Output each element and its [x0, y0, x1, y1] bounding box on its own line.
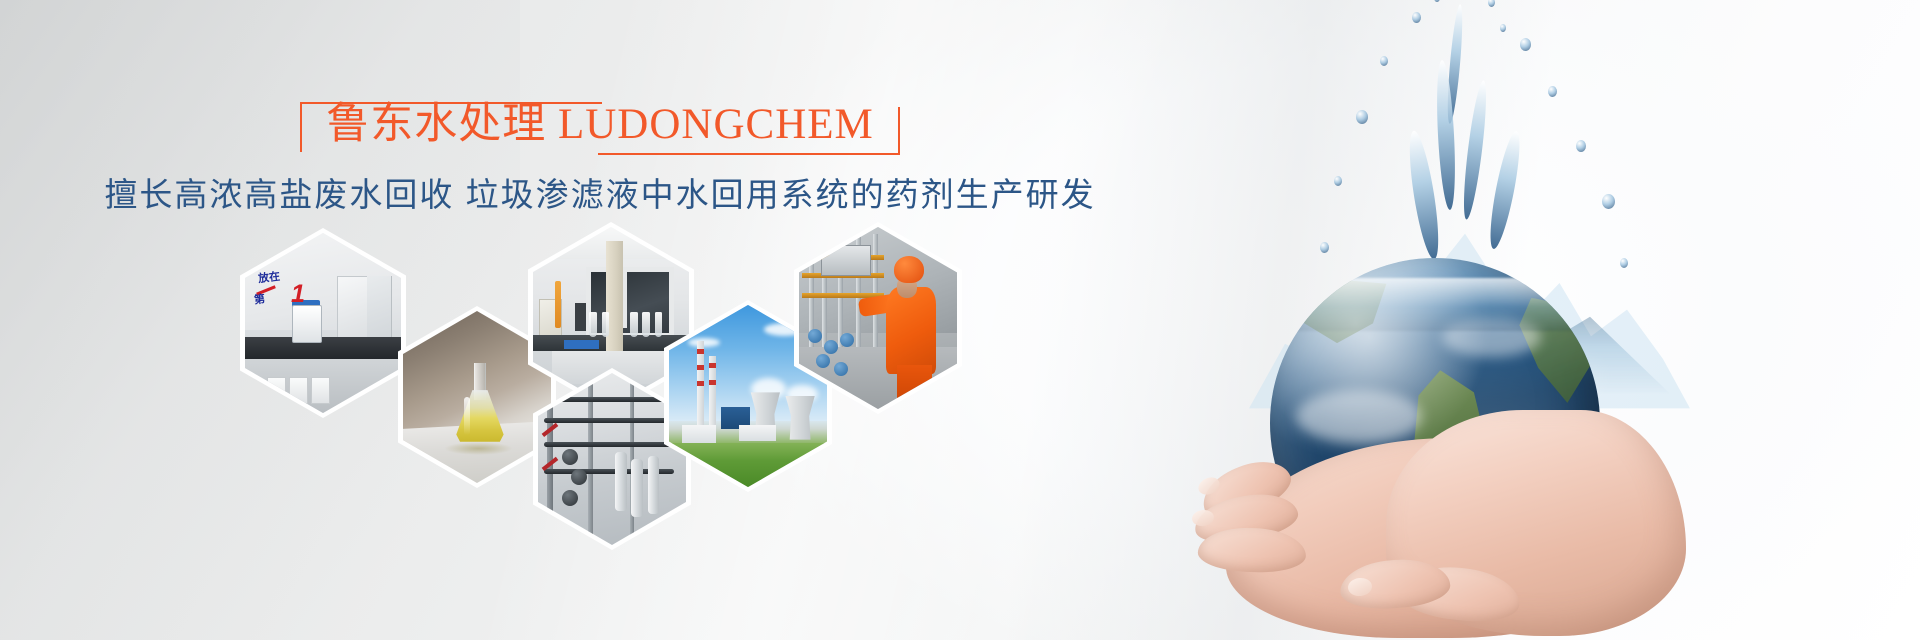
photo-laboratory-equipment-room: 放在 第 1 — [245, 233, 401, 413]
water-globe-artwork — [1080, 0, 1920, 640]
photo-slogan-overlay: 放在 第 1 — [254, 269, 320, 316]
hands-holding-globe — [1190, 392, 1690, 640]
hexagon-photo-cluster: 放在 第 1 — [0, 0, 1100, 640]
photo-engineer-inspecting-valves — [799, 227, 957, 409]
hex-tile-laboratory-equipment-room[interactable]: 放在 第 1 — [240, 228, 406, 418]
photo-water-treatment-piping-plant — [538, 373, 686, 545]
hex-tile-image-clip: 放在 第 1 — [245, 233, 401, 413]
hex-tile-image-clip — [799, 227, 957, 409]
hero-banner: 鲁东水处理 LUDONGCHEM 擅长高浓高盐废水回收 垃圾渗滤液中水回用系统的… — [0, 0, 1920, 640]
hex-tile-image-clip — [538, 373, 686, 545]
